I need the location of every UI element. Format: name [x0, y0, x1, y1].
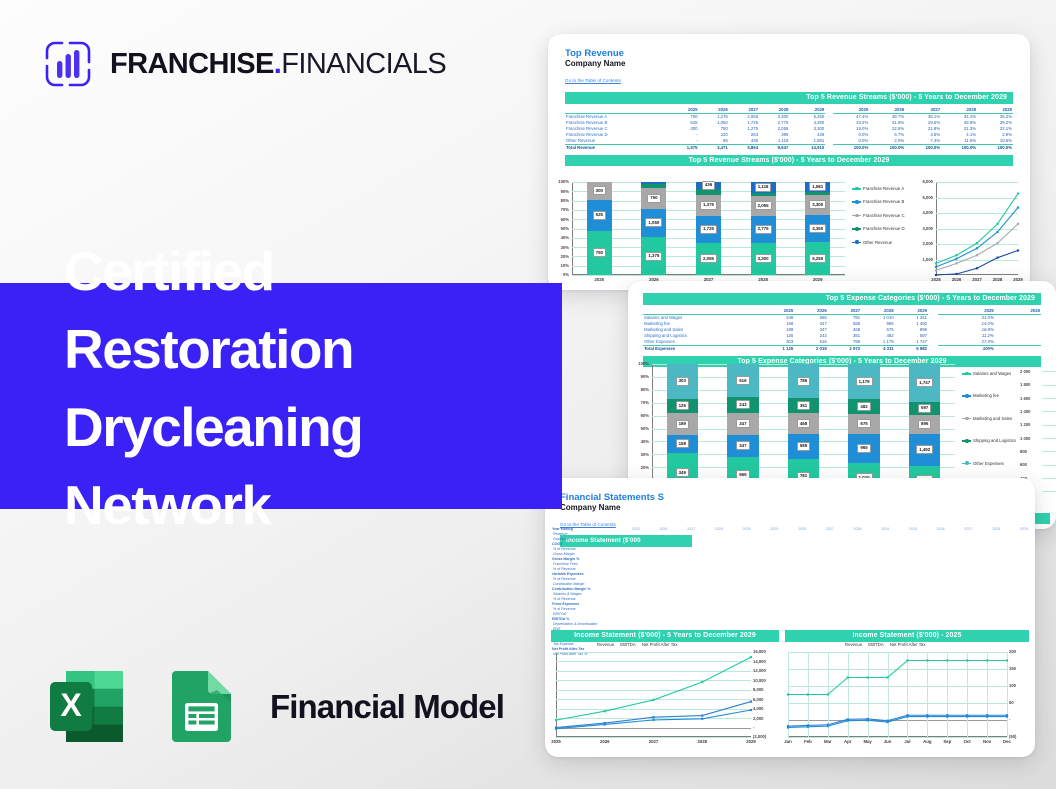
- bar-value-label: 347: [736, 419, 749, 428]
- y-tick-label: 800: [1020, 449, 1027, 454]
- y-tick-label: 40%: [636, 439, 649, 444]
- title-line-4: Network: [64, 466, 584, 544]
- bar-segment: 750: [587, 231, 612, 275]
- expense-percent-table: 2025202631.0%14.0%16.8%11.2%27.0%100%: [938, 308, 1041, 352]
- bar-column: 1,0109656754821,179: [848, 364, 880, 493]
- x-tick-label: Jul: [898, 739, 918, 744]
- bar-column: 565347347243516: [727, 364, 759, 493]
- bar-column: 3,3002,7752,0552991,118: [751, 182, 776, 275]
- bar-value-label: 2,055: [700, 254, 717, 263]
- bar-segment: 347: [727, 413, 759, 435]
- total-label: Total Expenses: [643, 345, 761, 352]
- total-cell: 5 982: [895, 345, 928, 352]
- table-row: Franchise Revenue A7501,2752,0553,3005,2…: [565, 113, 825, 120]
- x-tick-label: Dec: [997, 739, 1017, 744]
- bar-segment: 895: [909, 415, 941, 434]
- x-tick-label: Apr: [838, 739, 858, 744]
- bar-segment: 429: [805, 192, 830, 195]
- bar-value-label: 1,581: [809, 182, 826, 191]
- legend-item: Salaries and Wages: [962, 371, 1018, 376]
- total-cell: 3,471: [699, 144, 729, 151]
- bar-value-label: 2,055: [755, 201, 772, 210]
- brand-name-thin: FINANCIALS: [281, 48, 446, 80]
- x-tick-label: May: [858, 739, 878, 744]
- revenue-percent-table: 2025202620272028202947.4%38.7%35.1%34.2%…: [833, 107, 1013, 151]
- bar-value-label: 189: [676, 420, 689, 429]
- x-tick-label: Aug: [917, 739, 937, 744]
- bar-value-label: 525: [593, 211, 606, 220]
- bar-segment: 303: [667, 364, 699, 399]
- bar-column: 750525300: [587, 182, 612, 275]
- bar-segment: 299: [751, 193, 776, 196]
- bar-segment: 347: [727, 435, 759, 457]
- y-tick-label: 100%: [558, 179, 569, 184]
- legend-label: Franchise Revenue C: [863, 213, 905, 218]
- gridline: [1042, 371, 1056, 372]
- bar-segment: 2,775: [751, 216, 776, 243]
- bar-segment: 1,179: [848, 364, 880, 399]
- revenue-doc-subtitle: Company Name: [565, 59, 1021, 69]
- bar-value-label: 1,375: [645, 252, 662, 261]
- legend-item: Marketing and Sales: [962, 416, 1018, 421]
- bar-value-label: 1,747: [916, 378, 933, 387]
- legend-label: Marketing fee: [973, 393, 999, 398]
- bar-column: 781585468351786: [788, 364, 820, 493]
- x-tick-label: 2025: [545, 739, 580, 744]
- x-tick-label: Jan: [778, 739, 798, 744]
- fin-right-legend: RevenueEBITDANet Profit After Tax: [845, 642, 925, 647]
- y-tick-label: 60%: [636, 413, 649, 418]
- brand-logo-row: FRANCHISE.FINANCIALS: [40, 36, 446, 92]
- bar-column: 5,2504,3503,3004291,581: [805, 182, 830, 275]
- y-tick-label: 20%: [636, 465, 649, 470]
- bar-value-label: 675: [857, 419, 870, 428]
- total-cell: 100%: [938, 345, 995, 352]
- bar-value-label: 303: [676, 377, 689, 386]
- y-tick-label: 1 800: [1020, 382, 1030, 387]
- bar-segment: 1,725: [696, 216, 721, 243]
- legend-item: Shipping and Logistics: [962, 438, 1018, 443]
- bar-segment: 300: [587, 182, 612, 200]
- bar-segment: 2,055: [696, 243, 721, 275]
- x-tick-label: Nov: [977, 739, 997, 744]
- gridline: [572, 275, 845, 276]
- legend-item: Other Revenue: [852, 240, 914, 245]
- revenue-report-card[interactable]: Top Revenue Company Name Go to the Table…: [548, 34, 1030, 290]
- bar-column: 1,3751,05075015066: [641, 182, 666, 275]
- y-tick-label: 30%: [636, 452, 649, 457]
- bar-segment: 525: [587, 200, 612, 231]
- bar-value-label: 516: [736, 376, 749, 385]
- total-cell: 1 125: [761, 345, 794, 352]
- title-line-2: Restoration: [64, 310, 584, 388]
- bar-value-label: 482: [857, 402, 870, 411]
- legend-item: Revenue: [597, 642, 614, 647]
- legend-label: Net Profit After Tax: [642, 642, 678, 647]
- gridline: [1042, 425, 1056, 426]
- y-tick-label: 50%: [558, 226, 569, 231]
- legend-label: Marketing and Sales: [973, 416, 1012, 421]
- bar-segment: 189: [667, 413, 699, 435]
- legend-label: Franchise Revenue A: [863, 186, 904, 191]
- bar-value-label: 1,118: [755, 183, 772, 192]
- gridline: [1042, 465, 1056, 466]
- bar-value-label: 1,492: [916, 445, 933, 454]
- bar-segment: 243: [727, 397, 759, 413]
- microsoft-excel-icon: X: [40, 660, 133, 753]
- bar-value-label: 351: [797, 401, 810, 410]
- bar-value-label: 3,300: [809, 200, 826, 209]
- legend-label: Revenue: [845, 642, 862, 647]
- legend-swatch: [852, 242, 861, 244]
- legend-swatch: [962, 440, 971, 442]
- bar-value-label: 786: [797, 377, 810, 386]
- total-cell: 2 019: [794, 345, 827, 352]
- bar-segment: 750: [641, 188, 666, 209]
- total-cell: 4 311: [861, 345, 894, 352]
- gridline: [1042, 438, 1056, 439]
- legend-label: Revenue: [597, 642, 614, 647]
- y-tick-label: 100%: [636, 361, 649, 366]
- total-cell: 100.0%: [869, 144, 905, 151]
- y-tick-label: 90%: [636, 374, 649, 379]
- expense-values-table: 20252026202720282029Salaries and Wages34…: [643, 308, 928, 352]
- bar-value-label: 243: [736, 400, 749, 409]
- legend-swatch: [962, 463, 971, 465]
- legend-label: Franchise Revenue B: [863, 199, 904, 204]
- bar-segment: 126: [667, 399, 699, 413]
- gridline: [1042, 491, 1056, 492]
- y-tick-label: 90%: [558, 189, 569, 194]
- revenue-doc-title: Top Revenue: [565, 48, 1021, 59]
- y-tick-label: 50%: [636, 426, 649, 431]
- bar-value-label: 1,375: [700, 201, 717, 210]
- y-tick-label: 80%: [636, 387, 649, 392]
- bar-segment: 150: [641, 184, 666, 188]
- bar-segment: 436: [696, 182, 721, 189]
- x-tick-label: 2026: [580, 739, 629, 744]
- bar-value-label: 1,179: [856, 377, 873, 386]
- y-tick-label: 2 000: [1020, 369, 1030, 374]
- footer-row: X Financial Model: [40, 660, 504, 753]
- total-cell: 100.0%: [833, 144, 869, 151]
- y-tick-label: 80%: [558, 198, 569, 203]
- page-title: Certified Restoration Drycleaning Networ…: [64, 232, 584, 544]
- bar-segment: 516: [727, 364, 759, 397]
- total-cell: 100.0%: [977, 144, 1013, 151]
- bar-segment: 1,492: [909, 434, 941, 466]
- legend-item: Franchise Revenue A: [852, 186, 914, 191]
- x-tick-label: Feb: [798, 739, 818, 744]
- table-row: Franchise Revenue D-220263399429: [565, 132, 825, 138]
- legend-item: Franchise Revenue B: [852, 199, 914, 204]
- total-cell: 100.0%: [905, 144, 941, 151]
- legend-swatch: [852, 215, 861, 217]
- bar-segment: 4,350: [805, 215, 830, 242]
- title-line-1: Certified: [64, 232, 584, 310]
- x-tick-label: Jun: [878, 739, 898, 744]
- revenue-line-chart: 6,0005,0004,0003,0002,0001,0002025202620…: [920, 180, 1022, 284]
- bar-value-label: 300: [593, 186, 606, 195]
- revenue-table-band: Top 5 Revenue Streams ($'000) - 5 Years …: [565, 92, 1013, 104]
- legend-item: Franchise Revenue C: [852, 213, 914, 218]
- legend-swatch: [962, 395, 971, 397]
- expense-table-band: Top 5 Expense Categories ($'000) - 5 Yea…: [643, 293, 1041, 305]
- total-cell: 1,575: [668, 144, 698, 151]
- legend-item: Net Profit After Tax: [642, 642, 678, 647]
- bar-value-label: 468: [797, 419, 810, 428]
- bar-value-label: 895: [918, 420, 931, 429]
- y-tick-label: 1 200: [1020, 422, 1030, 427]
- legend-swatch: [962, 418, 971, 420]
- y-tick-label: 1 400: [1020, 409, 1030, 414]
- legend-label: Other Expenses: [973, 461, 1004, 466]
- fin-monthly-line-chart: 20015010050-(50)JanFebMarAprMayJunJulAug…: [785, 650, 1029, 746]
- excel-letter: X: [60, 687, 82, 723]
- legend-swatch: [852, 201, 861, 203]
- bar-value-label: 158: [676, 439, 689, 448]
- bar-segment: 1,747: [909, 364, 941, 402]
- line-series-group: [785, 650, 1029, 746]
- legend-item: EBITDA: [620, 642, 636, 647]
- bar-segment: 1,375: [641, 237, 666, 275]
- bar-segment: 585: [788, 434, 820, 459]
- revenue-chart-legend: Franchise Revenue AFranchise Revenue BFr…: [852, 186, 914, 253]
- legend-item: Revenue: [845, 642, 862, 647]
- total-label: Total Revenue: [565, 144, 668, 151]
- bar-column: 2,0551,7251,375363436: [696, 182, 721, 275]
- income-statement-table: Year Ending20252026202720282029202520262…: [551, 526, 1029, 626]
- bar-value-label: 436: [702, 181, 715, 190]
- bar-value-label: 3,300: [755, 254, 772, 263]
- gridline: [1042, 385, 1056, 386]
- legend-item: Marketing fee: [962, 393, 1018, 398]
- bar-value-label: 349: [676, 468, 689, 477]
- brand-name-bold: FRANCHISE: [110, 48, 274, 80]
- y-tick-label: 70%: [636, 400, 649, 405]
- fin-right-chart-band: Income Statement ($'000) - 2025: [785, 630, 1029, 642]
- bar-segment: 597: [909, 402, 941, 415]
- fin-left-legend: RevenueEBITDANet Profit After Tax: [597, 642, 677, 647]
- bar-segment: 468: [788, 413, 820, 433]
- revenue-values-table: 20252026202720282029Franchise Revenue A7…: [565, 107, 825, 151]
- gridline: [1042, 398, 1056, 399]
- table-row: Franchise Revenue B5251,0501,7252,7754,3…: [565, 120, 825, 126]
- legend-item: Net Profit After Tax: [890, 642, 926, 647]
- total-cell: 5,854: [729, 144, 759, 151]
- bar-value-label: 585: [797, 442, 810, 451]
- bar-segment: 158: [667, 435, 699, 453]
- title-line-3: Drycleaning: [64, 388, 584, 466]
- legend-label: Shipping and Logistics: [973, 438, 1016, 443]
- x-tick-label: Mar: [818, 739, 838, 744]
- legend-item: EBITDA: [868, 642, 884, 647]
- bar-segment: 675: [848, 414, 880, 434]
- legend-swatch: [852, 188, 861, 190]
- footer-label: Financial Model: [270, 688, 504, 726]
- bar-segment: 482: [848, 399, 880, 413]
- y-tick-label: 70%: [558, 207, 569, 212]
- bar-segment: 5,250: [805, 242, 830, 275]
- bar-chart-logo-icon: [40, 36, 96, 92]
- y-tick-label: 1 000: [1020, 436, 1030, 441]
- revenue-toc-link[interactable]: Go to the Table of Contents: [565, 78, 621, 83]
- total-cell: 9,647: [759, 144, 789, 151]
- x-tick-label: 2027: [629, 739, 678, 744]
- y-tick-label: 1 600: [1020, 396, 1030, 401]
- legend-label: Other Revenue: [863, 240, 892, 245]
- total-cell: 14,910: [789, 144, 825, 151]
- bar-value-label: 2,775: [755, 225, 772, 234]
- fin-left-chart-band: Income Statement ($'000) - 5 Years to De…: [551, 630, 779, 642]
- google-sheets-icon: [155, 660, 248, 753]
- legend-label: Net Profit After Tax: [890, 642, 926, 647]
- legend-label: EBITDA: [620, 642, 636, 647]
- table-row: Franchise Revenue C3007501,2752,0553,300: [565, 126, 825, 132]
- legend-item: Franchise Revenue D: [852, 226, 914, 231]
- bar-segment: 1,050: [641, 209, 666, 238]
- bar-value-label: 750: [647, 194, 660, 203]
- x-tick-label: 2029: [727, 739, 776, 744]
- legend-item: Other Expenses: [962, 461, 1018, 466]
- bar-value-label: 126: [676, 401, 689, 410]
- bar-value-label: 347: [736, 441, 749, 450]
- bar-segment: 1,118: [751, 182, 776, 193]
- gridline: [1042, 411, 1056, 412]
- bar-segment: 1,375: [696, 195, 721, 216]
- x-tick-label: Sep: [937, 739, 957, 744]
- bar-segment: 66: [641, 182, 666, 184]
- bar-column: 349158189126303: [667, 364, 699, 493]
- gridline: [1042, 478, 1056, 479]
- total-cell: [995, 345, 1041, 352]
- total-cell: 2 972: [828, 345, 861, 352]
- fin-5yr-line-chart: 16,00014,00012,00010,0008,0006,0004,0002…: [553, 650, 777, 746]
- gridline: [1042, 451, 1056, 452]
- bar-segment: 965: [848, 434, 880, 463]
- financial-statements-card[interactable]: Financial Statements S Company Name Go t…: [545, 478, 1035, 757]
- bar-segment: 3,300: [751, 243, 776, 275]
- bar-segment: 3,300: [805, 195, 830, 216]
- bar-column: 1,2511,4928955971,747: [909, 364, 941, 493]
- x-tick-label: 2028: [678, 739, 727, 744]
- total-cell: 100.0%: [941, 144, 977, 151]
- bar-segment: 1,581: [805, 182, 830, 192]
- bar-value-label: 4,350: [809, 224, 826, 233]
- legend-label: Salaries and Wages: [973, 371, 1011, 376]
- brand-wordmark: FRANCHISE.FINANCIALS: [110, 48, 446, 81]
- bar-segment: 351: [788, 398, 820, 413]
- revenue-chart-band: Top 5 Revenue Streams ($'000) - 5 Years …: [565, 155, 1013, 167]
- revenue-stacked-bar-chart: 100%90%80%70%60%50%40%30%20%10%0%7505253…: [558, 180, 848, 284]
- bar-value-label: 1,050: [645, 218, 662, 227]
- y-tick-label: 60%: [558, 217, 569, 222]
- line-series-group: [920, 180, 1022, 284]
- legend-swatch: [852, 228, 861, 230]
- bar-value-label: 965: [857, 444, 870, 453]
- bar-value-label: 597: [918, 404, 931, 413]
- line-series-group: [553, 650, 777, 746]
- bar-value-label: 5,250: [809, 254, 826, 263]
- x-tick-label: Oct: [957, 739, 977, 744]
- legend-swatch: [962, 373, 971, 375]
- legend-label: Franchise Revenue D: [863, 226, 905, 231]
- bar-value-label: 750: [593, 248, 606, 257]
- expense-chart-legend: Salaries and WagesMarketing feeMarketing…: [962, 371, 1018, 483]
- y-tick-label: 600: [1020, 462, 1027, 467]
- legend-label: EBITDA: [868, 642, 884, 647]
- bar-segment: 786: [788, 364, 820, 398]
- bar-segment: 2,055: [751, 196, 776, 216]
- bar-value-label: 1,725: [700, 225, 717, 234]
